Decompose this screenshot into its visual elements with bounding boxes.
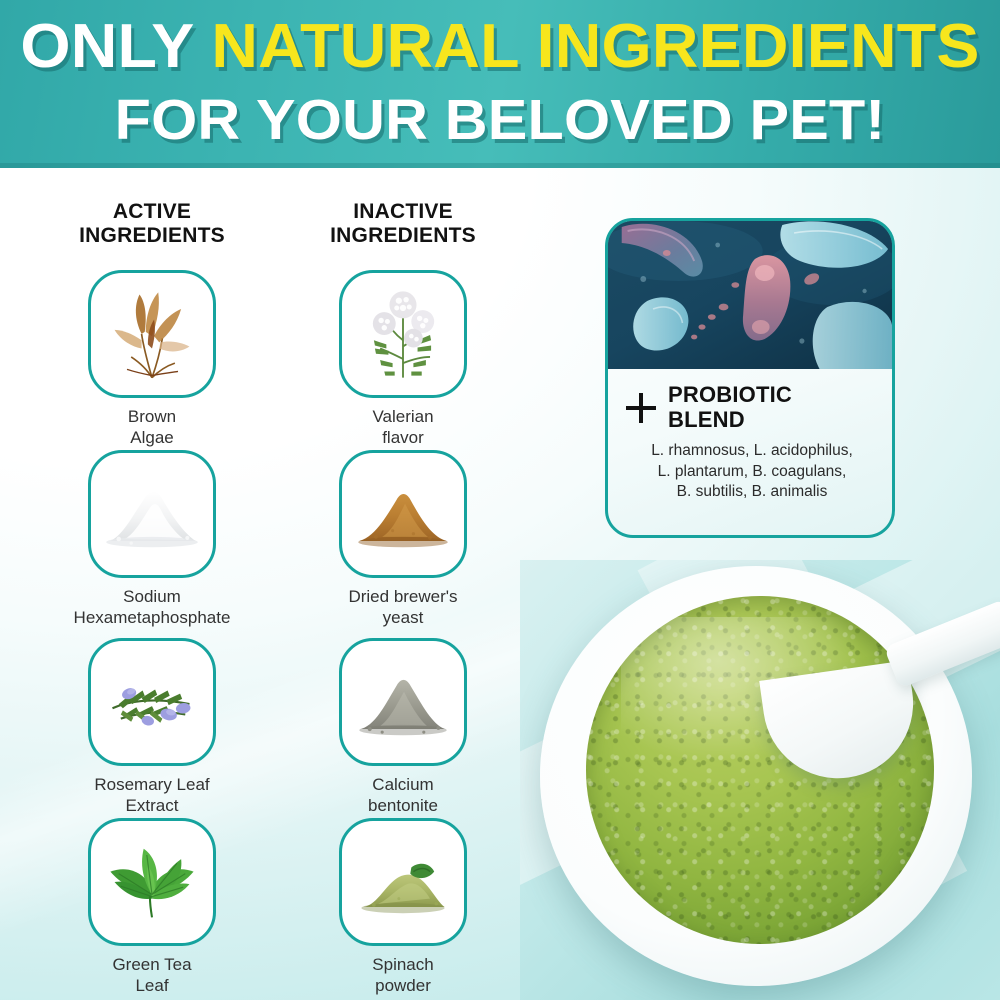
ingredient-label: Sodium Hexametaphosphate xyxy=(42,586,262,629)
probiotic-strains-line2: L. plantarum, B. coagulans, xyxy=(626,462,878,483)
ingredient-calcium-bentonite: Calcium bentonite xyxy=(293,638,513,817)
ingredient-label: Dried brewer's yeast xyxy=(293,586,513,629)
ingredient-label: Rosemary Leaf Extract xyxy=(42,774,262,817)
ingredient-dried-brewers-yeast: Dried brewer's yeast xyxy=(293,450,513,629)
calcium-bentonite-icon xyxy=(351,650,455,754)
ingredient-label-line1: Calcium xyxy=(293,774,513,795)
ingredient-card xyxy=(88,450,216,578)
ingredient-label-line2: Leaf xyxy=(42,975,262,996)
ingredient-label-line1: Valerian xyxy=(293,406,513,427)
column-heading-inactive: INACTIVE INGREDIENTS xyxy=(293,200,513,249)
ingredient-label: Valerian flavor xyxy=(293,406,513,449)
product-photo xyxy=(520,560,1000,1000)
brewers-yeast-icon xyxy=(351,462,455,566)
column-heading-inactive-line2: INGREDIENTS xyxy=(293,224,513,248)
ingredient-label-line2: flavor xyxy=(293,427,513,448)
column-heading-active: ACTIVE INGREDIENTS xyxy=(42,200,262,249)
ingredient-label-line2: Algae xyxy=(42,427,262,448)
green-tea-icon xyxy=(100,830,204,934)
ingredient-card xyxy=(88,818,216,946)
ingredient-label-line1: Brown xyxy=(42,406,262,427)
ingredient-label: Calcium bentonite xyxy=(293,774,513,817)
probiotic-title-line2: BLEND xyxy=(668,407,745,432)
probiotic-strains-line1: L. rhamnosus, L. acidophilus, xyxy=(626,441,878,462)
probiotic-content: PROBIOTIC BLEND L. rhamnosus, L. acidoph… xyxy=(608,369,892,513)
bacteria-illustration xyxy=(608,221,892,369)
ingredient-label: Spinach powder xyxy=(293,954,513,997)
header-banner: ONLY NATURAL INGREDIENTS FOR YOUR BELOVE… xyxy=(0,0,1000,168)
ingredient-label-line2: Hexametaphosphate xyxy=(42,607,262,628)
ingredient-green-tea-leaf: Green Tea Leaf xyxy=(42,818,262,997)
infographic-page: ONLY NATURAL INGREDIENTS FOR YOUR BELOVE… xyxy=(0,0,1000,1000)
ingredient-label-line2: bentonite xyxy=(293,795,513,816)
ingredient-brown-algae: Brown Algae xyxy=(42,270,262,449)
ingredient-label-line2: Extract xyxy=(42,795,262,816)
ingredient-valerian-flavor: Valerian flavor xyxy=(293,270,513,449)
column-heading-active-line2: INGREDIENTS xyxy=(42,224,262,248)
white-powder-icon xyxy=(100,462,204,566)
plus-icon xyxy=(626,393,656,423)
ingredient-card xyxy=(339,450,467,578)
ingredient-label: Brown Algae xyxy=(42,406,262,449)
headline-line-2: FOR YOUR BELOVED PET! xyxy=(0,92,1000,149)
valerian-flower-icon xyxy=(351,282,455,386)
ingredient-card xyxy=(88,638,216,766)
probiotic-bacteria-image xyxy=(608,221,892,369)
ingredient-spinach-powder: Spinach powder xyxy=(293,818,513,997)
rosemary-icon xyxy=(100,650,204,754)
probiotic-blend-panel: PROBIOTIC BLEND L. rhamnosus, L. acidoph… xyxy=(605,218,895,538)
headline-line-1: ONLY NATURAL INGREDIENTS xyxy=(0,16,1000,78)
ingredient-label-line1: Green Tea xyxy=(42,954,262,975)
ingredient-card xyxy=(339,818,467,946)
ingredient-label-line1: Rosemary Leaf xyxy=(42,774,262,795)
headline-highlight-natural-ingredients: NATURAL INGREDIENTS xyxy=(211,12,979,81)
headline-word-only: ONLY xyxy=(20,12,211,81)
ingredient-card xyxy=(339,638,467,766)
column-heading-active-line1: ACTIVE xyxy=(42,200,262,224)
ingredient-rosemary-leaf-extract: Rosemary Leaf Extract xyxy=(42,638,262,817)
white-bowl xyxy=(540,566,972,986)
probiotic-title-row: PROBIOTIC BLEND xyxy=(620,383,878,432)
green-powder xyxy=(586,596,934,944)
ingredient-label: Green Tea Leaf xyxy=(42,954,262,997)
ingredient-card xyxy=(88,270,216,398)
probiotic-strains-line3: B. subtilis, B. animalis xyxy=(626,482,878,503)
ingredient-sodium-hexametaphosphate: Sodium Hexametaphosphate xyxy=(42,450,262,629)
ingredient-label-line2: powder xyxy=(293,975,513,996)
ingredient-label-line1: Spinach xyxy=(293,954,513,975)
column-heading-inactive-line1: INACTIVE xyxy=(293,200,513,224)
ingredient-label-line2: yeast xyxy=(293,607,513,628)
ingredient-label-line1: Sodium xyxy=(42,586,262,607)
spinach-powder-icon xyxy=(351,830,455,934)
ingredient-card xyxy=(339,270,467,398)
probiotic-title-line1: PROBIOTIC xyxy=(668,382,792,407)
probiotic-strains-list: L. rhamnosus, L. acidophilus, L. plantar… xyxy=(620,441,878,503)
ingredient-label-line1: Dried brewer's xyxy=(293,586,513,607)
brown-algae-icon xyxy=(100,282,204,386)
probiotic-title: PROBIOTIC BLEND xyxy=(668,383,792,432)
